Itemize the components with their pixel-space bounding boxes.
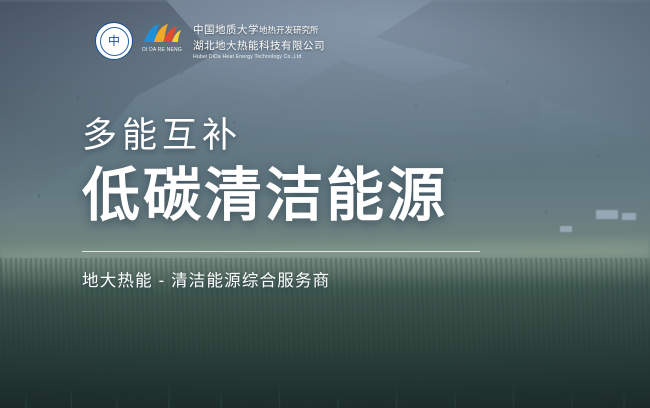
- logo-lockup: 中 DI DA RE NENG 中国地质大学地热开发研究所 湖北地大热能科技有限…: [95, 22, 325, 60]
- logo-company-name-english: Hubei DiDa Heat Energy Technology Co.,Lt…: [193, 54, 322, 60]
- university-seal-icon: 中: [95, 22, 133, 60]
- headline-title: 低碳清洁能源: [82, 167, 582, 225]
- logo-institute-line: 中国地质大学地热开发研究所: [193, 22, 325, 37]
- headline-divider: [82, 251, 480, 252]
- didare-flame-logo-art: [142, 22, 182, 46]
- headline-subtitle: 地大热能 - 清洁能源综合服务商: [82, 267, 582, 291]
- logo-company-name: 湖北地大热能科技有限公司: [193, 38, 325, 53]
- didare-logo-caption: DI DA RE NENG: [142, 47, 182, 53]
- didare-flame-logo-icon: DI DA RE NENG: [141, 22, 183, 60]
- logo-institute-suffix: 地热开发研究所: [259, 25, 319, 35]
- hero-banner: 中 DI DA RE NENG 中国地质大学地热开发研究所 湖北地大热能科技有限…: [0, 0, 650, 408]
- university-seal-glyph: 中: [100, 27, 129, 56]
- logo-university-name: 中国地质大学: [193, 24, 259, 36]
- headline-eyebrow: 多能互补: [82, 118, 582, 153]
- headline-block: 多能互补 低碳清洁能源 地大热能 - 清洁能源综合服务商: [82, 118, 582, 291]
- logo-text-block: 中国地质大学地热开发研究所 湖北地大热能科技有限公司 Hubei DiDa He…: [193, 22, 325, 60]
